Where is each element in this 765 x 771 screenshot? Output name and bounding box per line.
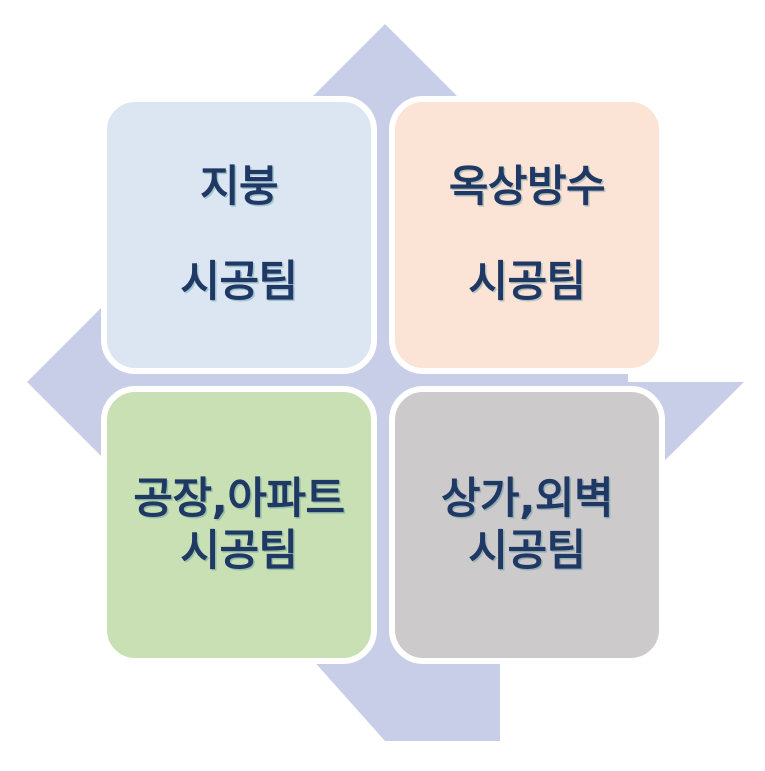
- quadrant-grid: 지붕 시공팀 옥상방수 시공팀 공장,아파트 시공팀 상가,외벽 시공팀: [95, 90, 671, 670]
- quadrant-factory-apartment-line-2: 시공팀: [180, 525, 297, 577]
- quadrant-cell-retail-exterior-wall: 상가,외벽 시공팀: [383, 380, 671, 670]
- quadrant-box-rooftop-waterproof[interactable]: 옥상방수 시공팀: [389, 96, 665, 374]
- quadrant-factory-apartment-line-1: 공장,아파트: [133, 473, 344, 525]
- quadrant-rooftop-waterproof-line-1: 옥상방수: [449, 166, 605, 209]
- quadrant-retail-exterior-wall-line-2: 시공팀: [468, 525, 585, 577]
- quadrant-rooftop-waterproof-line-2: 시공팀: [468, 261, 585, 304]
- quadrant-cell-factory-apartment: 공장,아파트 시공팀: [95, 380, 383, 670]
- quadrant-box-retail-exterior-wall[interactable]: 상가,외벽 시공팀: [389, 386, 665, 664]
- quadrant-box-roof[interactable]: 지붕 시공팀: [101, 96, 377, 374]
- quadrant-cell-roof: 지붕 시공팀: [95, 90, 383, 380]
- quadrant-cell-rooftop-waterproof: 옥상방수 시공팀: [383, 90, 671, 380]
- diagram-canvas: 지붕 시공팀 옥상방수 시공팀 공장,아파트 시공팀 상가,외벽 시공팀: [0, 0, 765, 771]
- quadrant-retail-exterior-wall-line-1: 상가,외벽: [441, 473, 613, 525]
- quadrant-box-factory-apartment[interactable]: 공장,아파트 시공팀: [101, 386, 377, 664]
- quadrant-roof-line-1: 지붕: [200, 166, 278, 209]
- quadrant-roof-line-2: 시공팀: [180, 261, 297, 304]
